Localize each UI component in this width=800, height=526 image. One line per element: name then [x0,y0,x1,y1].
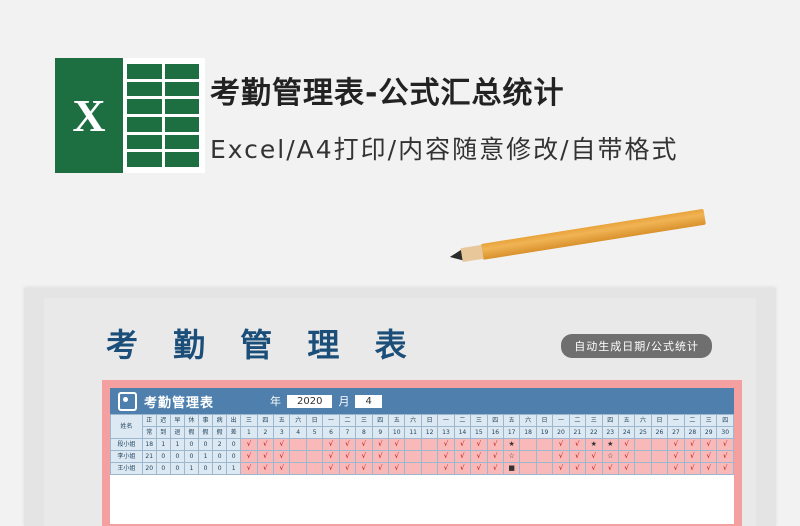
row-name: 段小姐 [111,439,143,451]
table-row[interactable]: 王小姐20001001√√√√√√√√√√√√■√√√√√√√√√ [111,463,734,475]
row-day-20[interactable]: √ [569,439,585,451]
attendance-mark: √ [378,440,382,448]
row-day-9[interactable]: √ [389,439,405,451]
row-stat-0: 18 [142,439,156,451]
promo-banner: X 考勤管理表-公式汇总统计 Excel/A4打印/内容随意修改/自带格式 [0,0,800,290]
attendance-mark: √ [723,440,727,448]
attendance-mark: √ [460,440,464,448]
row-day-29[interactable]: √ [717,451,734,463]
row-day-17[interactable] [520,451,536,463]
header-stat-top-6: 出 [227,415,241,427]
header-stat-top-1: 迟 [156,415,170,427]
attendance-mark: √ [707,464,711,472]
row-stat-2: 0 [170,451,184,463]
row-day-11[interactable] [421,463,437,475]
header-day-16: 17 [503,427,519,439]
header-weekday-27: 二 [684,415,700,427]
year-label: 年 [270,393,281,409]
year-value[interactable]: 2020 [287,395,332,408]
row-day-18[interactable] [536,439,552,451]
attendance-mark: √ [394,464,398,472]
attendance-mark: √ [592,464,596,472]
header-day-23: 24 [618,427,634,439]
header-weekday-7: 三 [356,415,372,427]
attendance-mark: √ [477,464,481,472]
row-day-6[interactable]: √ [339,439,355,451]
document-preview: 考 勤 管 理 表 自动生成日期/公式统计 考勤管理表 年 2020 月 4 姓… [24,288,776,526]
row-day-1[interactable]: √ [257,451,273,463]
row-day-16[interactable]: ■ [503,463,519,475]
header-weekday-25: 日 [651,415,667,427]
row-day-16[interactable]: ☆ [503,451,519,463]
header-stat-bottom-5: 假 [213,427,227,439]
row-day-7[interactable]: √ [356,439,372,451]
row-day-13[interactable]: √ [454,451,470,463]
row-day-2[interactable]: √ [274,451,290,463]
attendance-mark: ☆ [509,452,515,460]
header-stat-top-5: 病 [213,415,227,427]
header-weekday-19: 一 [553,415,569,427]
row-stat-5: 0 [213,451,227,463]
attendance-mark: √ [575,452,579,460]
attendance-mark: √ [690,452,694,460]
row-day-21[interactable]: ★ [586,439,602,451]
header-weekday-21: 三 [586,415,602,427]
row-day-27[interactable]: √ [684,451,700,463]
attendance-mark: √ [345,452,349,460]
attendance-mark: √ [690,440,694,448]
header-day-11: 12 [421,427,437,439]
row-stat-2: 0 [170,463,184,475]
excel-logo-letter: X [72,93,105,139]
sheet-frame: 考勤管理表 年 2020 月 4 姓名正迟早休事病出三四五六日一二三四五六日一二… [102,380,742,526]
header-weekday-8: 四 [372,415,388,427]
attendance-mark: √ [247,452,251,460]
header-weekday-20: 二 [569,415,585,427]
attendance-mark: √ [263,464,267,472]
row-day-3[interactable] [290,463,306,475]
row-stat-1: 0 [156,451,170,463]
attendance-mark: √ [575,464,579,472]
row-day-12[interactable]: √ [438,451,454,463]
header-weekday-18: 日 [536,415,552,427]
sheet-header-title: 考勤管理表 [144,392,214,411]
row-day-12[interactable]: √ [438,439,454,451]
attendance-mark: √ [329,452,333,460]
header-day-15: 16 [487,427,503,439]
header-stat-bottom-3: 假 [184,427,198,439]
row-day-7[interactable]: √ [356,451,372,463]
row-day-26[interactable]: √ [668,451,684,463]
attendance-mark: √ [559,440,563,448]
row-day-4[interactable] [306,451,322,463]
row-name: 王小姐 [111,463,143,475]
document-page: 考 勤 管 理 表 自动生成日期/公式统计 考勤管理表 年 2020 月 4 姓… [44,298,756,526]
table-header-row-weekday: 姓名正迟早休事病出三四五六日一二三四五六日一二三四五六日一二三四五六日一二三四 [111,415,734,427]
month-value[interactable]: 4 [355,395,381,408]
header-weekday-5: 一 [323,415,339,427]
row-day-22[interactable]: √ [602,463,618,475]
header-stat-bottom-6: 差 [227,427,241,439]
page-title: 考勤管理表-公式汇总统计 [210,68,564,112]
excel-logo-grid [123,58,205,173]
attendance-mark: √ [280,452,284,460]
row-day-22[interactable]: ★ [602,439,618,451]
row-day-26[interactable]: √ [668,439,684,451]
attendance-mark: √ [329,440,333,448]
row-day-9[interactable]: √ [389,463,405,475]
row-day-28[interactable]: √ [701,439,717,451]
row-day-18[interactable] [536,451,552,463]
row-day-4[interactable] [306,439,322,451]
header-day-27: 28 [684,427,700,439]
row-day-14[interactable]: √ [471,463,487,475]
attendance-mark: ★ [607,440,613,448]
header-day-3: 4 [290,427,306,439]
table-row[interactable]: 李小姐21000100√√√√√√√√√√√√☆√√√☆√√√√√ [111,451,734,463]
attendance-mark: ★ [509,440,515,448]
attendance-mark: √ [559,464,563,472]
row-stat-5: 0 [213,463,227,475]
header-day-8: 9 [372,427,388,439]
row-stat-6: 0 [227,439,241,451]
header-day-26: 27 [668,427,684,439]
row-stat-6: 0 [227,451,241,463]
header-weekday-0: 三 [241,415,257,427]
row-day-20[interactable]: √ [569,463,585,475]
row-stat-3: 0 [184,451,198,463]
header-day-29: 30 [717,427,734,439]
attendance-mark: ★ [591,440,597,448]
header-day-7: 8 [356,427,372,439]
header-weekday-1: 四 [257,415,273,427]
attendance-mark: √ [592,452,596,460]
row-day-19[interactable]: √ [553,451,569,463]
row-day-10[interactable] [405,439,421,451]
attendance-mark: √ [493,440,497,448]
row-day-20[interactable]: √ [569,451,585,463]
document-title: 考 勤 管 理 表 [106,320,419,366]
header-day-1: 2 [257,427,273,439]
row-day-15[interactable]: √ [487,463,503,475]
row-day-29[interactable]: √ [717,463,734,475]
row-day-28[interactable]: √ [701,463,717,475]
calendar-icon [118,392,137,411]
header-day-4: 5 [306,427,322,439]
header-stat-bottom-1: 到 [156,427,170,439]
row-day-24[interactable] [635,439,651,451]
attendance-mark: √ [362,452,366,460]
attendance-mark: √ [444,452,448,460]
row-day-5[interactable]: √ [323,439,339,451]
row-day-8[interactable]: √ [372,451,388,463]
header-day-22: 23 [602,427,618,439]
header-day-6: 7 [339,427,355,439]
row-day-11[interactable] [421,451,437,463]
row-day-23[interactable]: √ [618,439,634,451]
row-day-5[interactable]: √ [323,451,339,463]
header-weekday-26: 一 [668,415,684,427]
row-day-17[interactable] [520,439,536,451]
row-day-15[interactable]: √ [487,439,503,451]
feature-badge: 自动生成日期/公式统计 [561,334,712,358]
row-day-15[interactable]: √ [487,451,503,463]
attendance-mark: √ [362,440,366,448]
header-stat-top-2: 早 [170,415,184,427]
attendance-mark: √ [378,452,382,460]
attendance-mark: √ [477,452,481,460]
row-stat-6: 1 [227,463,241,475]
month-label: 月 [338,393,349,409]
row-day-23[interactable]: √ [618,463,634,475]
row-stat-4: 1 [198,451,212,463]
row-day-21[interactable]: √ [586,463,602,475]
attendance-mark: √ [674,452,678,460]
header-weekday-3: 六 [290,415,306,427]
attendance-mark: √ [444,464,448,472]
row-day-19[interactable]: √ [553,463,569,475]
pencil-decoration [447,198,710,278]
header-day-5: 6 [323,427,339,439]
row-day-18[interactable] [536,463,552,475]
row-stat-3: 0 [184,439,198,451]
attendance-mark: √ [624,452,628,460]
header-name: 姓名 [111,415,143,439]
attendance-mark: ☆ [607,452,613,460]
attendance-mark: √ [559,452,563,460]
sheet-header: 考勤管理表 年 2020 月 4 [110,388,734,414]
row-day-5[interactable]: √ [323,463,339,475]
row-stat-2: 1 [170,439,184,451]
row-day-3[interactable] [290,451,306,463]
excel-logo: X [55,58,205,173]
attendance-mark: ■ [508,464,515,472]
table-row[interactable]: 段小姐18110020√√√√√√√√√√√√★√√★★√√√√√ [111,439,734,451]
attendance-mark: √ [345,464,349,472]
header-weekday-28: 三 [701,415,717,427]
row-day-1[interactable]: √ [257,463,273,475]
header-weekday-4: 日 [306,415,322,427]
row-stat-0: 21 [142,451,156,463]
attendance-mark: √ [247,464,251,472]
header-day-24: 25 [635,427,651,439]
header-weekday-12: 一 [438,415,454,427]
attendance-mark: √ [575,440,579,448]
header-day-18: 19 [536,427,552,439]
row-day-10[interactable] [405,463,421,475]
attendance-mark: √ [493,452,497,460]
attendance-mark: √ [624,440,628,448]
header-day-0: 1 [241,427,257,439]
row-day-13[interactable]: √ [454,439,470,451]
header-weekday-23: 五 [618,415,634,427]
row-stat-1: 1 [156,439,170,451]
header-weekday-17: 六 [520,415,536,427]
row-day-0[interactable]: √ [241,439,257,451]
attendance-mark: √ [280,440,284,448]
header-stat-bottom-0: 常 [142,427,156,439]
attendance-mark: √ [707,440,711,448]
attendance-mark: √ [477,440,481,448]
attendance-mark: √ [280,464,284,472]
attendance-mark: √ [247,440,251,448]
header-weekday-6: 二 [339,415,355,427]
row-day-14[interactable]: √ [471,451,487,463]
table-header-row-day: 常到退假假假差123456789101112131415161718192021… [111,427,734,439]
row-day-19[interactable]: √ [553,439,569,451]
row-day-21[interactable]: √ [586,451,602,463]
row-day-6[interactable]: √ [339,463,355,475]
row-day-6[interactable]: √ [339,451,355,463]
header-stat-top-4: 事 [198,415,212,427]
attendance-mark: √ [263,440,267,448]
header-weekday-15: 四 [487,415,503,427]
row-day-24[interactable] [635,451,651,463]
header-weekday-22: 四 [602,415,618,427]
attendance-mark: √ [723,452,727,460]
row-day-17[interactable] [520,463,536,475]
row-day-14[interactable]: √ [471,439,487,451]
row-day-13[interactable]: √ [454,463,470,475]
excel-logo-letter-box: X [55,58,123,173]
header-day-2: 3 [274,427,290,439]
header-day-25: 26 [651,427,667,439]
header-day-14: 15 [471,427,487,439]
header-day-9: 10 [389,427,405,439]
row-stat-3: 1 [184,463,198,475]
attendance-mark: √ [444,440,448,448]
row-day-4[interactable] [306,463,322,475]
header-day-13: 14 [454,427,470,439]
header-day-12: 13 [438,427,454,439]
row-day-2[interactable]: √ [274,439,290,451]
header-weekday-14: 三 [471,415,487,427]
row-day-16[interactable]: ★ [503,439,519,451]
row-day-25[interactable] [651,463,667,475]
row-day-27[interactable]: √ [684,439,700,451]
row-day-27[interactable]: √ [684,463,700,475]
attendance-mark: √ [674,464,678,472]
attendance-table: 姓名正迟早休事病出三四五六日一二三四五六日一二三四五六日一二三四五六日一二三四常… [110,414,734,475]
header-stat-top-0: 正 [142,415,156,427]
sheet: 考勤管理表 年 2020 月 4 姓名正迟早休事病出三四五六日一二三四五六日一二… [110,388,734,524]
attendance-mark: √ [345,440,349,448]
row-day-7[interactable]: √ [356,463,372,475]
row-day-28[interactable]: √ [701,451,717,463]
row-day-3[interactable] [290,439,306,451]
header-stat-bottom-4: 假 [198,427,212,439]
attendance-mark: √ [394,452,398,460]
header-day-21: 22 [586,427,602,439]
header-day-28: 29 [701,427,717,439]
attendance-mark: √ [707,452,711,460]
row-day-8[interactable]: √ [372,439,388,451]
row-day-29[interactable]: √ [717,439,734,451]
header-day-20: 21 [569,427,585,439]
attendance-mark: √ [723,464,727,472]
row-day-0[interactable]: √ [241,451,257,463]
page-subtitle: Excel/A4打印/内容随意修改/自带格式 [210,130,679,166]
header-day-10: 11 [405,427,421,439]
row-day-22[interactable]: ☆ [602,451,618,463]
attendance-mark: √ [624,464,628,472]
header-weekday-2: 五 [274,415,290,427]
row-day-1[interactable]: √ [257,439,273,451]
row-day-12[interactable]: √ [438,463,454,475]
row-day-8[interactable]: √ [372,463,388,475]
attendance-mark: √ [394,440,398,448]
row-stat-0: 20 [142,463,156,475]
row-stat-4: 0 [198,439,212,451]
row-day-24[interactable] [635,463,651,475]
row-day-25[interactable] [651,451,667,463]
row-stat-4: 0 [198,463,212,475]
row-day-2[interactable]: √ [274,463,290,475]
attendance-mark: √ [329,464,333,472]
attendance-mark: √ [674,440,678,448]
header-weekday-11: 日 [421,415,437,427]
attendance-mark: √ [460,452,464,460]
header-weekday-29: 四 [717,415,734,427]
header-stat-bottom-2: 退 [170,427,184,439]
row-day-10[interactable] [405,451,421,463]
row-stat-5: 2 [213,439,227,451]
row-day-9[interactable]: √ [389,451,405,463]
row-name: 李小姐 [111,451,143,463]
row-day-25[interactable] [651,439,667,451]
header-weekday-24: 六 [635,415,651,427]
header-weekday-10: 六 [405,415,421,427]
row-stat-1: 0 [156,463,170,475]
attendance-mark: √ [690,464,694,472]
row-day-23[interactable]: √ [618,451,634,463]
header-weekday-16: 五 [503,415,519,427]
attendance-mark: √ [460,464,464,472]
attendance-mark: √ [608,464,612,472]
attendance-mark: √ [378,464,382,472]
header-weekday-9: 五 [389,415,405,427]
row-day-26[interactable]: √ [668,463,684,475]
row-day-0[interactable]: √ [241,463,257,475]
attendance-mark: √ [493,464,497,472]
header-stat-top-3: 休 [184,415,198,427]
attendance-mark: √ [263,452,267,460]
header-weekday-13: 二 [454,415,470,427]
header-day-19: 20 [553,427,569,439]
row-day-11[interactable] [421,439,437,451]
attendance-mark: √ [362,464,366,472]
header-day-17: 18 [520,427,536,439]
